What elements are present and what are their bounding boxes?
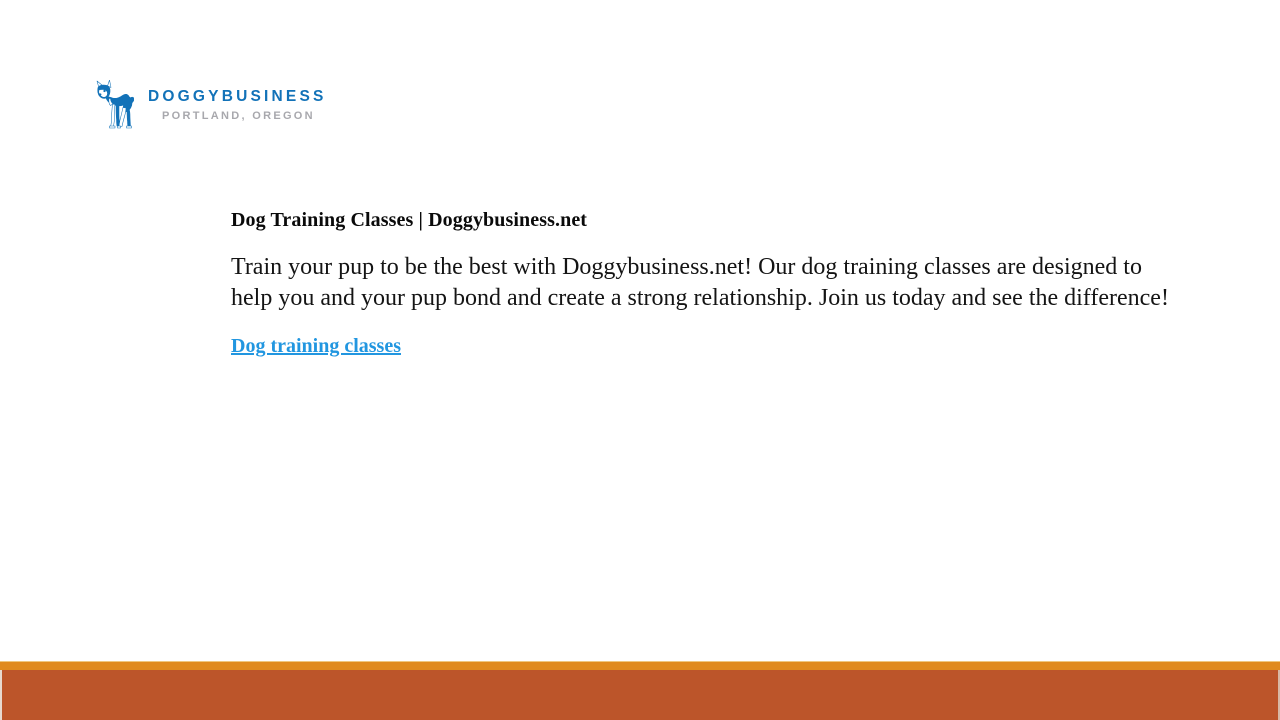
brand-name: DOGGYBUSINESS [148, 89, 327, 105]
footer-band [0, 661, 1280, 720]
footer-accent-stripe [0, 661, 1280, 670]
intro-paragraph: Train your pup to be the best with Doggy… [231, 252, 1181, 314]
brand-tagline: PORTLAND, OREGON [162, 111, 327, 123]
footer-body [0, 670, 1280, 720]
link-row: Dog training classes [231, 333, 1181, 359]
logo-wordmark: DOGGYBUSINESS PORTLAND, OREGON [148, 87, 327, 123]
main-content: Dog Training Classes | Doggybusiness.net… [231, 207, 1181, 359]
site-logo[interactable]: DOGGYBUSINESS PORTLAND, OREGON [92, 80, 327, 130]
page-canvas: DOGGYBUSINESS PORTLAND, OREGON Dog Train… [0, 0, 1280, 720]
dog-training-classes-link[interactable]: Dog training classes [231, 335, 401, 357]
dog-logo-icon [92, 80, 134, 130]
page-title: Dog Training Classes | Doggybusiness.net [231, 207, 1181, 233]
